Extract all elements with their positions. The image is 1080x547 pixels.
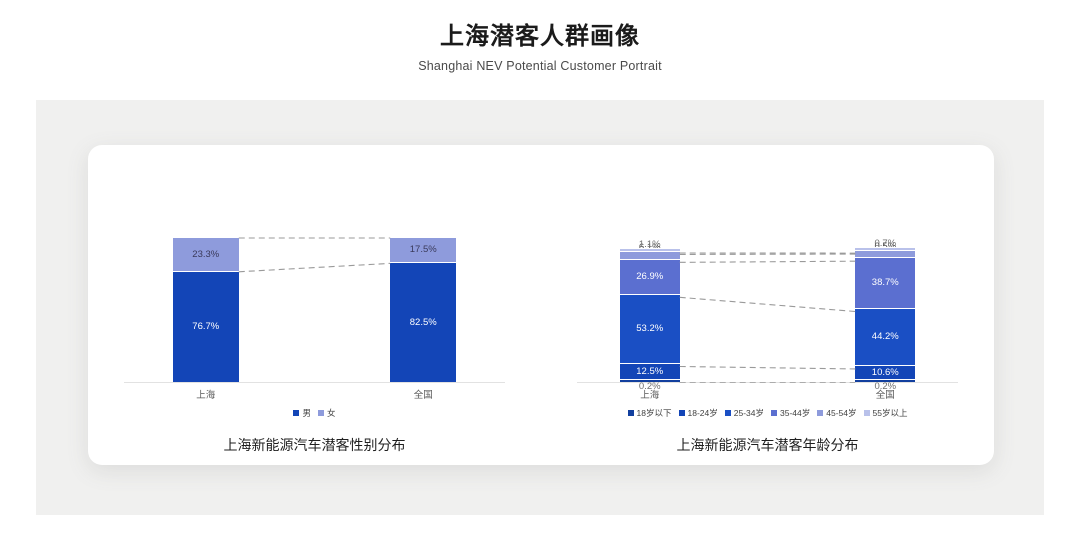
gender-chart-block: 76.7%23.3%82.5%17.5% 男女 上海新能源汽车潜客性别分布 上海… [88, 145, 541, 465]
charts-container: 76.7%23.3%82.5%17.5% 男女 上海新能源汽车潜客性别分布 上海… [88, 145, 994, 465]
gender-chart-plot: 76.7%23.3%82.5%17.5% [88, 193, 541, 383]
age-chart-legend: 18岁以下18-24岁25-34岁35-44岁45-54岁55岁以上 [541, 407, 994, 419]
age-chart-axis [577, 382, 958, 383]
legend-label: 女 [327, 407, 336, 419]
stacked-bar: 0.2%12.5%53.2%26.9%6.1%1.1% [620, 248, 680, 382]
bar-segment-label: 10.6% [872, 368, 899, 378]
bar-segment: 23.3% [173, 237, 239, 271]
legend-item[interactable]: 55岁以上 [864, 407, 908, 419]
bar-segment-label: 23.3% [192, 250, 219, 260]
legend-item[interactable]: 18岁以下 [628, 407, 672, 419]
bar-segment: 17.5% [390, 237, 456, 262]
bar-segment-label: 26.9% [636, 272, 663, 282]
stacked-bar: 0.2%10.6%44.2%38.7%0.5%0.7% [855, 247, 915, 382]
legend-item[interactable]: 25-34岁 [725, 407, 764, 419]
bar-segment: 26.9% [620, 259, 680, 294]
legend-label: 男 [302, 407, 311, 419]
legend-label: 35-44岁 [780, 407, 810, 419]
bar-segment: 0.2% [620, 379, 680, 382]
bar-segment: 10.6% [855, 365, 915, 379]
age-chart-plot: 0.2%12.5%53.2%26.9%6.1%1.1%0.2%10.6%44.2… [541, 193, 994, 383]
bar-segment: 82.5% [390, 262, 456, 382]
legend-swatch-icon [817, 410, 823, 416]
stacked-bar: 76.7%23.3% [173, 237, 239, 382]
legend-swatch-icon [293, 410, 299, 416]
category-label: 上海 [196, 387, 215, 401]
gender-chart-axis [124, 382, 505, 383]
category-label: 上海 [640, 387, 659, 401]
legend-item[interactable]: 女 [318, 407, 336, 419]
page-header: 上海潜客人群画像 Shanghai NEV Potential Customer… [0, 0, 1080, 73]
legend-swatch-icon [725, 410, 731, 416]
bar-segment: 53.2% [620, 294, 680, 363]
bar-segment: 0.5% [855, 250, 915, 257]
age-chart-caption: 上海新能源汽车潜客年龄分布 [541, 435, 994, 455]
legend-swatch-icon [864, 410, 870, 416]
bar-segment: 1.1% [620, 248, 680, 251]
bar-segment-label: 38.7% [872, 278, 899, 288]
bar-segment-label: 17.5% [410, 245, 437, 255]
bar-segment-label: 53.2% [636, 324, 663, 334]
legend-label: 18岁以下 [637, 407, 672, 419]
bar-segment: 38.7% [855, 257, 915, 307]
stacked-bar: 82.5%17.5% [390, 237, 456, 382]
legend-item[interactable]: 45-54岁 [817, 407, 856, 419]
gender-chart-legend: 男女 [88, 407, 541, 419]
bar-segment-label: 12.5% [636, 367, 663, 377]
category-label: 全国 [414, 387, 433, 401]
legend-label: 18-24岁 [688, 407, 718, 419]
page-subtitle: Shanghai NEV Potential Customer Portrait [0, 59, 1080, 73]
bar-segment-label: 1.1% [639, 240, 661, 250]
category-label: 全国 [876, 387, 895, 401]
gender-chart-caption: 上海新能源汽车潜客性别分布 [88, 435, 541, 455]
bar-segment: 0.7% [855, 247, 915, 250]
age-chart-block: 0.2%12.5%53.2%26.9%6.1%1.1%0.2%10.6%44.2… [541, 145, 994, 465]
legend-swatch-icon [318, 410, 324, 416]
legend-swatch-icon [628, 410, 634, 416]
bar-segment-label: 82.5% [410, 318, 437, 328]
legend-swatch-icon [679, 410, 685, 416]
legend-label: 25-34岁 [734, 407, 764, 419]
legend-label: 55岁以上 [873, 407, 908, 419]
bar-segment: 76.7% [173, 271, 239, 382]
legend-item[interactable]: 18-24岁 [679, 407, 718, 419]
bar-segment-label: 76.7% [192, 322, 219, 332]
legend-item[interactable]: 35-44岁 [771, 407, 810, 419]
bar-segment: 44.2% [855, 308, 915, 365]
bar-segment-label: 0.7% [874, 239, 896, 249]
legend-item[interactable]: 男 [293, 407, 311, 419]
bar-segment: 0.2% [855, 379, 915, 382]
legend-label: 45-54岁 [826, 407, 856, 419]
bar-segment: 12.5% [620, 363, 680, 379]
bar-segment: 6.1% [620, 251, 680, 259]
page-title: 上海潜客人群画像 [0, 22, 1080, 52]
bar-segment-label: 44.2% [872, 332, 899, 342]
legend-swatch-icon [771, 410, 777, 416]
